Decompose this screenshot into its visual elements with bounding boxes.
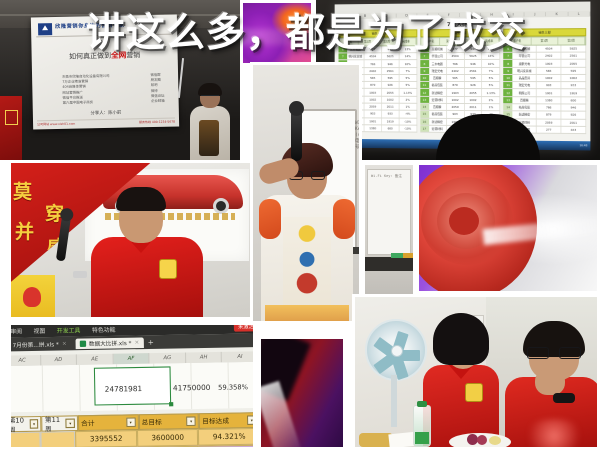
cell: 华锦公司 [429,53,447,59]
cell: 1919 [382,118,400,124]
photo-collage: 欣隆营销你身边的营销专家 如何真正做到全网营销 东莞市欣隆自动化设备有限公司 7… [0,0,600,450]
headline-suffix: 营销 [126,51,140,59]
cell: 5625 [382,53,400,59]
column-header: C [376,14,397,18]
slide-bullets-right: 微信群 朋友圈 贴吧 微博 微信论坛 企业邮箱 [150,73,164,104]
cell: 2561 [465,68,483,74]
melon-slice [489,436,501,445]
red-rose-macro-photo [416,162,600,294]
cell: 2561 [562,53,587,59]
cell: 2% [399,97,417,103]
rose-petal-center [449,207,479,235]
purple-flower-macro-photo [240,0,314,66]
dress-hem [265,305,349,321]
menu-item-view[interactable]: 视图 [34,326,46,335]
cell: -4% [399,111,417,117]
row-number: 17 [420,125,429,131]
cell: 1.13% [399,89,417,95]
microphone-icon [291,109,302,161]
speaking-man [87,189,203,317]
header-total[interactable]: 合计▾ [78,414,139,431]
header-achievement[interactable]: 目标达成▾ [199,412,253,429]
row-number: 6 [420,46,429,52]
column-header: A [335,14,356,18]
column-header: F [439,13,460,17]
column-header-ai[interactable]: AI [222,351,253,362]
excel-spreadsheet-photo: 审阅 视图 开发工具 特色功能 未激活 7月份第…拼.xls * × 数据大比拼… [8,322,256,450]
cell: 926 [465,82,483,88]
banner-char: 并 [15,217,34,244]
cell: 百顺精 [429,104,447,110]
cell: 瑞宏光电 [429,68,447,74]
cell: 14% [482,53,500,59]
footer-left-text: 公司网站 www.xlzh01.com [37,122,75,127]
column-header-ae[interactable]: AE [77,354,113,365]
workbook-tab-1[interactable]: 7月份第…拼.xls * × [11,338,71,350]
cell: 933 [382,111,400,117]
cell: 5625 [465,53,483,59]
cell: 2402 [364,68,381,74]
banner-char: 莫 [13,177,32,204]
workbook-tab-2[interactable]: 数据大比拼.xls * × [75,337,144,349]
row-number: 8 [504,60,513,66]
cell: 2011 [382,104,400,110]
cell-value-ag: 41750000 [173,384,211,393]
bullet-item: 第六届中国电子商务 [63,100,111,106]
cell: 7% [399,68,417,74]
cell: 1002 [537,75,562,81]
row-number: 16 [420,118,429,124]
cell: 2059 [537,119,562,126]
row-number: 11 [504,82,513,88]
cell-total: 3395552 [75,430,137,447]
glasses-icon [527,347,581,359]
bullet-item: 企业邮箱 [151,99,165,104]
company-badge-icon [465,383,483,402]
header-week11[interactable]: 第11周▾ [42,415,78,431]
column-header-af[interactable]: AF [113,353,149,364]
cell: 879 [447,82,465,88]
table-row: 10百顺精5655955% [420,75,501,82]
cell: 2402 [447,68,465,74]
cell: 1002 [364,96,381,102]
board-ledge [365,257,413,271]
excel-file-icon [79,340,85,346]
cell: 新达精密 [429,118,447,124]
col-label: 客户名 [421,38,440,45]
whiteboard-notes: Wi-Fi Key: 备注 [371,174,402,179]
row-number: 15 [420,111,429,117]
row-number: 7 [504,53,513,59]
block-col-headers: 客户名 第1周 第2周 [504,36,587,45]
cell: 1% [482,104,500,110]
slide-headline: 如何真正做到全网营销 [32,48,178,62]
fan-pole [391,375,397,427]
footer-right-text: 服务热线 400-1234-5678 [139,120,175,125]
cell: 1903 [447,89,465,95]
cell: 946 [382,61,400,67]
col-label: 第1周 [440,38,460,45]
cell: 879 [537,112,562,118]
cell: 14% [399,53,417,59]
column-header: K [546,12,568,16]
cell: 1002 [382,96,400,102]
cell: 13% [482,46,500,52]
menu-item-features[interactable]: 特色功能 [92,325,116,334]
cell: 277 [364,46,381,52]
table-row: 9瑞宏光电240225617% [420,68,501,75]
cell: 565 [537,68,562,74]
cell: 4504 [537,45,562,51]
company-badge-icon [159,259,177,279]
filter-icon[interactable]: ▾ [66,419,75,429]
cell-target: 3600000 [137,429,199,447]
col-label: 客户名 [339,39,358,46]
excel-window: 审阅 视图 开发工具 特色功能 未激活 7月份第…拼.xls * × 数据大比拼… [11,325,253,447]
cell: 裕昌包装 [429,111,447,117]
cell: 5% [399,82,417,88]
cell: -10% [399,118,417,124]
header-label: 第11周 [45,414,66,433]
row-number: 7 [338,54,347,60]
cell: 277 [537,126,562,133]
cell: 13% [399,46,417,52]
sheet-block-3: 销售三部 客户名 第1周 第2周 6高顺机械45045625 7华锦公司2402… [504,28,587,134]
book-yellow [403,253,413,258]
column-header-ag[interactable]: AG [150,353,186,364]
cell-area[interactable]: 24781981 41750000 59.358% [11,362,253,413]
cell: 2055 [562,60,587,66]
cell: 933 [562,82,587,88]
grape [477,435,487,445]
cell: 879 [364,82,381,88]
cell: 2059 [364,104,381,110]
add-tab-button[interactable]: + [148,338,154,347]
cell: 裕昌包装 [429,82,447,88]
whiteboard: Wi-Fi Key: 备注 [367,169,411,255]
cell: 2402 [537,53,562,59]
filter-icon[interactable]: ▾ [29,419,38,429]
filter-icon[interactable]: ▾ [186,416,196,426]
col-label: 第1周 [531,37,558,44]
woman-hair [433,313,489,365]
man-hair [116,187,166,211]
cell: 766 [364,61,381,67]
company-logo-icon [38,23,52,35]
column-headers: A B C D E F G H I J K L [335,11,591,19]
column-header: E [418,13,439,17]
slide-header-text: 欣隆营销你身边的营销专家 [55,22,125,30]
cell: 5625 [562,45,587,51]
cell: 2561 [382,68,400,74]
row-number: 12 [420,89,429,95]
headline-prefix: 如何真正做到 [69,52,111,61]
col-label: 完成率 [480,38,500,45]
cell: 443 [465,46,483,52]
row-number: 8 [420,60,429,66]
close-icon[interactable]: × [62,340,67,346]
cell: 565 [447,75,465,81]
cell-target: 4800000 [137,446,199,447]
cell: 2059 [447,104,465,110]
col-label: 第2周 [558,37,585,44]
cell-achievement: 94.321% [198,428,253,446]
column-header: B [355,14,376,18]
cell: 600 [382,125,400,131]
cell-achievement: 79.664% [199,445,253,447]
wristwatch [553,393,575,403]
column-header: L [568,12,590,16]
cell: 明辉公司 [513,90,537,96]
woman-in-red-polo [423,313,499,447]
filter-icon[interactable]: ▾ [247,415,253,425]
right-sleeve [333,199,355,239]
slide-presenter: 分享人：陈小前 [33,108,179,117]
cell: 595 [382,75,400,81]
row-number: 6 [338,46,347,52]
cell: 1380 [364,125,381,131]
row-number: 9 [420,68,429,74]
column-header-ah[interactable]: AH [186,352,222,363]
cell: 277 [447,46,465,52]
cell: 565 [364,75,381,81]
electric-fan [365,319,427,381]
flower-petals [243,3,311,63]
block-col-headers: 客户名 第1周 第2周 完成率 [420,37,501,46]
cell: 10% [482,60,500,66]
red-purple-abstract-photo [258,336,346,450]
cell: 766 [447,60,465,66]
cell: 1901 [537,90,562,96]
cell: 瑞宏光电 [513,82,537,88]
cell: 1919 [562,90,587,96]
wristwatch [73,271,87,278]
cell: 高顺机械 [513,46,537,52]
row-number: 10 [504,75,513,81]
row-number: 9 [504,68,513,74]
fan-hub [391,345,403,357]
menu-item-developer[interactable]: 开发工具 [57,325,81,334]
column-header: I [503,12,525,16]
row-number: 14 [420,104,429,110]
slide-footer: 公司网站 www.xlzh01.com 服务热线 400-1234-5678 [37,118,175,127]
column-header: D [397,13,418,17]
cell: 2% [482,97,500,103]
tab-label: 7月份第…拼.xls * [13,339,59,348]
row-number: 7 [420,53,429,59]
cell: 946 [562,104,587,110]
header-week10[interactable]: 第10周▾ [11,416,42,432]
standing-man [186,86,232,160]
table-row: 8三木电器76694610% [420,60,501,67]
cell: 4504 [364,53,381,59]
header-label: 总目标 [142,417,162,427]
cell-value-af: 24781981 [105,385,143,394]
col-label: 客户名 [505,38,532,45]
row-number: 11 [420,82,429,88]
cell: 595 [465,75,483,81]
cell: 昌晶皮具 [513,75,537,81]
woman-with-microphone-photo: WIFI Key: (4) 电话号码 [250,62,362,324]
whiteboard-notes: WIFI Key: (4) 电话号码 [355,121,359,151]
two-people-at-table-photo [352,294,600,450]
cell: 443 [562,127,587,134]
cell: 7% [482,68,500,74]
headline-accent: 全网 [111,51,126,60]
classroom-whiteboard-photo: Wi-Fi Key: 备注 [362,162,416,302]
filter-icon[interactable]: ▾ [126,417,136,427]
cell: 1% [399,104,417,110]
col-label: 第2周 [378,38,397,45]
red-flag-decor [0,96,22,160]
cell: 10% [399,60,417,66]
left-sleeve [259,199,281,239]
row-number: 13 [504,97,513,103]
cell-value-ah: 59.358% [218,383,248,392]
cell: 宏源材料 [429,97,447,103]
cell: -10% [399,125,417,131]
cell: 600 [562,97,587,103]
cell: 康鹏光电 [513,60,537,66]
water-bottle [413,405,431,447]
cell: 新达精密 [513,112,537,118]
cell: 明兴家具城 [347,53,364,59]
table-row: 3395552 3600000 94.321% [11,428,253,447]
menu-item-review[interactable]: 审阅 [11,326,22,335]
column-header: H [481,13,503,17]
cell: 2011 [562,119,587,126]
foreground-blur [521,419,587,447]
projection-screen: 欣隆营销你身边的营销专家 如何真正做到全网营销 东莞市欣隆自动化设备有限公司 7… [31,14,179,129]
cell: 903 [537,82,562,88]
cell: 595 [562,67,587,73]
slide-header-bar: 欣隆营销你身边的营销专家 [36,20,172,38]
cell: 2011 [465,104,483,110]
activation-badge[interactable]: 未激活 [234,325,253,332]
col-label: 第2周 [460,38,480,45]
cell: 三木电器 [429,60,447,66]
column-header: G [460,13,481,17]
cell: 百顺精 [429,75,447,81]
column-header: J [525,12,547,16]
cell: 1903 [364,89,381,95]
cell: 946 [465,60,483,66]
col-label: 完成率 [397,38,416,45]
cell: 1002 [465,97,483,103]
row-number: 10 [420,75,429,81]
header-target[interactable]: 总目标▾ [138,413,199,430]
table-row: 8康鹏光电19032055 [504,60,587,68]
cell: 三木电器 [347,46,364,52]
cell: 裕昌包装 [513,104,537,110]
cell: 5% [482,75,500,81]
header-label: 合计 [81,418,95,428]
cell: 1002 [447,97,465,103]
yellow-poster [11,275,55,317]
column-header-ad[interactable]: AD [41,354,77,365]
col-label: 第1周 [358,38,377,45]
cell: 5% [482,82,500,88]
cell: 华锦公司 [513,53,537,59]
cell: 1901 [364,118,381,124]
cell: 926 [382,82,400,88]
cell: 高顺机械 [429,46,447,52]
cell: 926 [562,112,587,119]
table-row: 9明兴家具城565595 [504,67,587,74]
taskbar-clock: 16:48 [580,144,588,147]
row-number: 12 [504,90,513,96]
header-label: 目标达成 [202,416,229,426]
column-header-ac[interactable]: AC [11,355,41,366]
glasses-icon [201,95,219,100]
row-number: 13 [420,97,429,103]
cell: 443 [382,46,400,52]
dress-pattern [283,217,331,309]
cell [41,431,76,447]
cell: 1903 [537,60,562,66]
block-col-headers: 客户名 第1周 第2周 完成率 [338,37,417,46]
row-number: 14 [504,104,513,110]
cell: 2055 [382,89,400,95]
cell: 百顺精 [513,97,537,103]
man-with-red-banner-photo: 莫 穿 并 感 [8,160,256,320]
tab-label: 数据大比拼.xls * [89,338,132,347]
cell [11,432,41,447]
close-icon[interactable]: × [134,339,139,345]
red-polo-shirt [91,237,203,317]
cell: 1.13% [482,89,500,95]
row-number: 6 [504,46,513,52]
cell: 1380 [537,97,562,103]
table-row: 10昌晶皮具10021002 [504,75,587,82]
cell: 4504 [447,53,465,59]
slide-bullets-left: 东莞市欣隆自动化设备有限公司 7万企业精准营销 404自媒体营销 网站营销推广 … [62,74,110,106]
bottle-cap [417,401,427,407]
cell: 766 [537,104,562,110]
cell: 2055 [465,89,483,95]
projector-slide-photo: 欣隆营销你身边的营销专家 如何真正做到全网营销 东莞市欣隆自动化设备有限公司 7… [0,0,240,160]
cell: 903 [364,111,381,117]
cell: 新达精密 [429,89,447,95]
cell: 明兴家具城 [513,68,537,74]
cell: 903 [447,111,465,117]
cell: 5% [399,75,417,81]
cell: 宏源材料 [429,126,447,132]
shirt-print [199,120,219,156]
man-hand [535,369,565,395]
cell: 1002 [562,75,587,81]
